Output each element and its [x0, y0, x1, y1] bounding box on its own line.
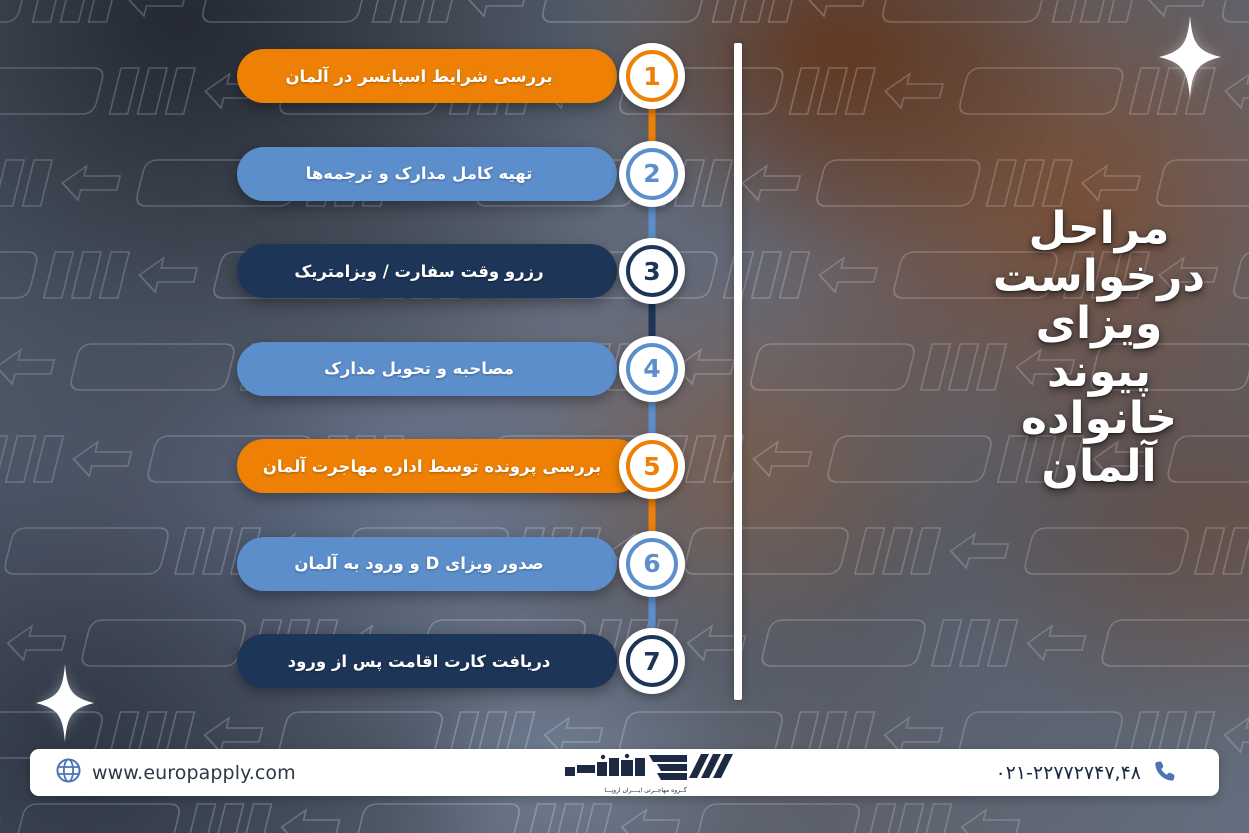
title-line: مراحل	[949, 205, 1249, 253]
step-bar: بررسی شرایط اسپانسر در آلمان	[237, 49, 617, 103]
step-number: 6	[643, 551, 660, 576]
step-item[interactable]: رزرو وقت سفارت / ویزامتریک3	[237, 244, 617, 298]
step-number: 2	[643, 161, 660, 186]
title-line: ویزای	[949, 300, 1249, 348]
step-label: تهیه کامل مدارک و ترجمه‌ها	[306, 164, 533, 183]
brand-logo-mark	[557, 752, 735, 786]
step-label: مصاحبه و تحویل مدارک	[324, 359, 514, 378]
phone-number[interactable]: ۰۲۱-۲۲۷۷۲۷۴۷,۴۸	[995, 762, 1141, 784]
step-number: 1	[643, 64, 660, 89]
title-line: پیوند	[949, 348, 1249, 396]
step-badge-ring: 5	[626, 440, 678, 492]
step-badge-ring: 6	[626, 538, 678, 590]
infographic-canvas: بررسی شرایط اسپانسر در آلمان1تهیه کامل م…	[0, 0, 1249, 833]
step-label: صدور ویزای D و ورود به آلمان	[294, 554, 543, 573]
step-number-badge: 5	[619, 433, 685, 499]
step-badge-ring: 7	[626, 635, 678, 687]
steps-list: بررسی شرایط اسپانسر در آلمان1تهیه کامل م…	[0, 0, 700, 740]
brand-logo: گــروه مهاجــرتی ایــــران اروپـــا	[296, 752, 996, 794]
step-number-badge: 2	[619, 141, 685, 207]
footer-website[interactable]: www.europapply.com	[56, 758, 296, 787]
step-number-badge: 7	[619, 628, 685, 694]
step-badge-ring: 4	[626, 343, 678, 395]
step-number-badge: 4	[619, 336, 685, 402]
sparkle-icon	[1159, 16, 1221, 98]
step-item[interactable]: دریافت کارت اقامت پس از ورود7	[237, 634, 617, 688]
step-item[interactable]: مصاحبه و تحویل مدارک4	[237, 342, 617, 396]
step-number-badge: 1	[619, 43, 685, 109]
step-label: دریافت کارت اقامت پس از ورود	[288, 652, 551, 671]
step-badge-ring: 1	[626, 50, 678, 102]
step-number: 3	[643, 259, 660, 284]
step-bar: دریافت کارت اقامت پس از ورود	[237, 634, 617, 688]
page-title: مراحل درخواست ویزای پیوند خانواده آلمان	[949, 205, 1249, 490]
step-number: 4	[643, 356, 660, 381]
step-item[interactable]: تهیه کامل مدارک و ترجمه‌ها2	[237, 147, 617, 201]
step-item[interactable]: بررسی پرونده توسط اداره مهاجرت آلمان5	[237, 439, 643, 493]
step-label: بررسی شرایط اسپانسر در آلمان	[285, 67, 552, 86]
step-number: 7	[643, 649, 660, 674]
title-line: درخواست	[949, 253, 1249, 301]
step-label: بررسی پرونده توسط اداره مهاجرت آلمان	[263, 457, 601, 476]
step-bar: صدور ویزای D و ورود به آلمان	[237, 537, 617, 591]
step-number-badge: 3	[619, 238, 685, 304]
brand-subtitle: گــروه مهاجــرتی ایــــران اروپـــا	[604, 787, 686, 794]
globe-icon	[56, 758, 81, 787]
step-item[interactable]: صدور ویزای D و ورود به آلمان6	[237, 537, 617, 591]
step-label: رزرو وقت سفارت / ویزامتریک	[294, 262, 543, 281]
step-bar: مصاحبه و تحویل مدارک	[237, 342, 617, 396]
step-badge-ring: 2	[626, 148, 678, 200]
footer-bar: www.europapply.com	[30, 749, 1219, 796]
step-bar: رزرو وقت سفارت / ویزامتریک	[237, 244, 617, 298]
title-line: خانواده	[949, 395, 1249, 443]
step-number-badge: 6	[619, 531, 685, 597]
website-url[interactable]: www.europapply.com	[92, 762, 296, 784]
title-line: آلمان	[949, 443, 1249, 491]
footer-phone[interactable]: ۰۲۱-۲۲۷۷۲۷۴۷,۴۸	[995, 759, 1177, 787]
step-bar: بررسی پرونده توسط اداره مهاجرت آلمان	[237, 439, 643, 493]
step-item[interactable]: بررسی شرایط اسپانسر در آلمان1	[237, 49, 617, 103]
step-number: 5	[643, 454, 660, 479]
step-bar: تهیه کامل مدارک و ترجمه‌ها	[237, 147, 617, 201]
step-badge-ring: 3	[626, 245, 678, 297]
vertical-divider	[734, 43, 742, 700]
phone-icon	[1153, 759, 1177, 787]
